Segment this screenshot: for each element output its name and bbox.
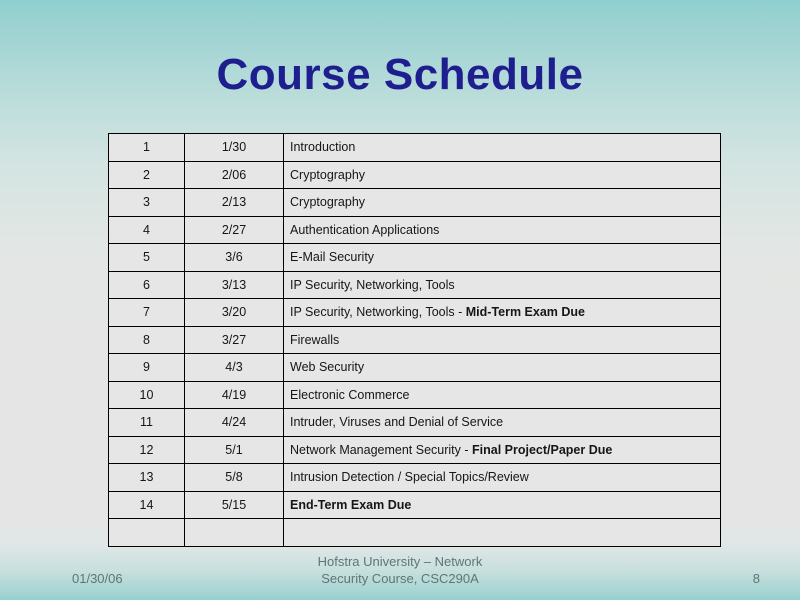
table-row: 125/1Network Management Security - Final… [109, 436, 721, 464]
row-date-cell: 5/15 [185, 491, 284, 519]
row-topic-text: Cryptography [290, 195, 365, 209]
row-topic-emphasis: End-Term Exam Due [290, 498, 411, 512]
row-topic-text: Intruder, Viruses and Denial of Service [290, 415, 503, 429]
row-date-cell: 4/19 [185, 381, 284, 409]
row-index-cell: 1 [109, 134, 185, 162]
row-topic-text: Web Security [290, 360, 364, 374]
row-date-cell: 1/30 [185, 134, 284, 162]
row-topic-text: Authentication Applications [290, 223, 439, 237]
table-row: 73/20IP Security, Networking, Tools - Mi… [109, 299, 721, 327]
row-topic-cell: IP Security, Networking, Tools [284, 271, 721, 299]
page-title: Course Schedule [0, 52, 800, 98]
row-topic-text: Network Management Security - [290, 443, 472, 457]
row-topic-text: Introduction [290, 140, 355, 154]
table-row: 104/19Electronic Commerce [109, 381, 721, 409]
row-index-cell: 3 [109, 189, 185, 217]
row-topic-cell [284, 519, 721, 547]
row-topic-text: IP Security, Networking, Tools - [290, 305, 466, 319]
row-index-cell: 4 [109, 216, 185, 244]
row-date-cell: 2/27 [185, 216, 284, 244]
row-topic-text: Firewalls [290, 333, 339, 347]
slide-canvas: Course Schedule 11/30Introduction22/06Cr… [0, 0, 800, 600]
row-index-cell [109, 519, 185, 547]
row-date-cell: 2/06 [185, 161, 284, 189]
row-topic-text: Cryptography [290, 168, 365, 182]
row-topic-text: Intrusion Detection / Special Topics/Rev… [290, 470, 529, 484]
row-date-cell: 3/27 [185, 326, 284, 354]
row-index-cell: 6 [109, 271, 185, 299]
row-topic-cell: Electronic Commerce [284, 381, 721, 409]
row-topic-cell: Introduction [284, 134, 721, 162]
footer-page-number: 8 [700, 570, 760, 587]
row-index-cell: 14 [109, 491, 185, 519]
row-index-cell: 12 [109, 436, 185, 464]
row-date-cell: 5/1 [185, 436, 284, 464]
course-schedule-body: 11/30Introduction22/06Cryptography32/13C… [109, 134, 721, 547]
row-topic-text: Electronic Commerce [290, 388, 409, 402]
table-row: 42/27Authentication Applications [109, 216, 721, 244]
row-index-cell: 5 [109, 244, 185, 272]
row-date-cell: 3/13 [185, 271, 284, 299]
row-index-cell: 2 [109, 161, 185, 189]
table-row: 22/06Cryptography [109, 161, 721, 189]
row-topic-cell: E-Mail Security [284, 244, 721, 272]
row-topic-cell: Network Management Security - Final Proj… [284, 436, 721, 464]
row-index-cell: 11 [109, 409, 185, 437]
course-schedule-table: 11/30Introduction22/06Cryptography32/13C… [108, 133, 721, 547]
table-row: 53/6E-Mail Security [109, 244, 721, 272]
row-index-cell: 9 [109, 354, 185, 382]
footer-date: 01/30/06 [72, 570, 212, 587]
footer-divider [0, 545, 800, 546]
row-topic-cell: End-Term Exam Due [284, 491, 721, 519]
row-topic-cell: Intruder, Viruses and Denial of Service [284, 409, 721, 437]
table-row: 145/15End-Term Exam Due [109, 491, 721, 519]
footer-course-label: Hofstra University – Network Security Co… [250, 553, 550, 587]
row-date-cell: 4/3 [185, 354, 284, 382]
row-index-cell: 10 [109, 381, 185, 409]
row-topic-text: IP Security, Networking, Tools [290, 278, 455, 292]
row-index-cell: 7 [109, 299, 185, 327]
row-date-cell: 2/13 [185, 189, 284, 217]
table-row: 63/13IP Security, Networking, Tools [109, 271, 721, 299]
row-topic-cell: Cryptography [284, 189, 721, 217]
row-topic-text: E-Mail Security [290, 250, 374, 264]
row-date-cell: 4/24 [185, 409, 284, 437]
table-row: 11/30Introduction [109, 134, 721, 162]
row-topic-cell: Firewalls [284, 326, 721, 354]
row-topic-cell: Web Security [284, 354, 721, 382]
row-index-cell: 13 [109, 464, 185, 492]
row-date-cell: 3/6 [185, 244, 284, 272]
row-topic-cell: Authentication Applications [284, 216, 721, 244]
row-topic-cell: IP Security, Networking, Tools - Mid-Ter… [284, 299, 721, 327]
table-row: 32/13Cryptography [109, 189, 721, 217]
row-topic-emphasis: Mid-Term Exam Due [466, 305, 585, 319]
row-date-cell: 3/20 [185, 299, 284, 327]
table-row [109, 519, 721, 547]
row-index-cell: 8 [109, 326, 185, 354]
table-row: 94/3Web Security [109, 354, 721, 382]
table-row: 114/24Intruder, Viruses and Denial of Se… [109, 409, 721, 437]
row-topic-emphasis: Final Project/Paper Due [472, 443, 612, 457]
row-topic-cell: Intrusion Detection / Special Topics/Rev… [284, 464, 721, 492]
table-row: 83/27Firewalls [109, 326, 721, 354]
row-date-cell [185, 519, 284, 547]
table-row: 135/8Intrusion Detection / Special Topic… [109, 464, 721, 492]
row-date-cell: 5/8 [185, 464, 284, 492]
row-topic-cell: Cryptography [284, 161, 721, 189]
